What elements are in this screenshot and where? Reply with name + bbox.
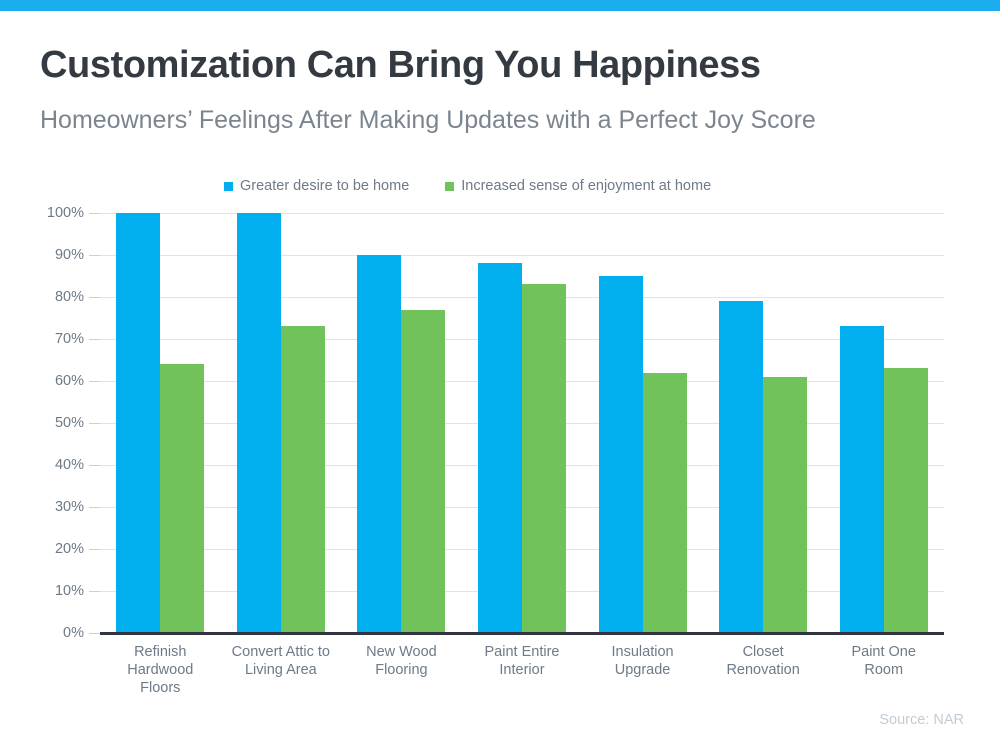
y-axis-tick: [89, 381, 100, 382]
bar-series0-cat1[interactable]: [237, 213, 281, 633]
legend-swatch-icon-0: [224, 182, 233, 191]
bar-series1-cat5[interactable]: [763, 377, 807, 633]
x-axis-label-0: Refinish Hardwood Floors: [100, 643, 221, 697]
x-axis-label-1: Convert Attic to Living Area: [221, 643, 342, 679]
y-axis-tick: [89, 339, 100, 340]
y-axis-label: 30%: [55, 499, 84, 515]
y-axis-label: 100%: [47, 205, 84, 221]
bar-series0-cat5[interactable]: [719, 301, 763, 633]
y-axis-label: 20%: [55, 541, 84, 557]
legend-label-0: Greater desire to be home: [240, 178, 409, 194]
bar-series1-cat2[interactable]: [401, 310, 445, 633]
y-axis-label: 0%: [63, 625, 84, 641]
legend-item-1[interactable]: Increased sense of enjoyment at home: [445, 178, 711, 194]
gridline: [100, 255, 944, 256]
y-axis-tick: [89, 591, 100, 592]
y-axis-tick: [89, 549, 100, 550]
y-axis-label: 80%: [55, 289, 84, 305]
y-axis-tick: [89, 633, 100, 634]
bar-series1-cat0[interactable]: [160, 364, 204, 633]
y-axis-label: 90%: [55, 247, 84, 263]
top-accent-bar: [0, 0, 1000, 11]
y-axis-label: 10%: [55, 583, 84, 599]
chart-plot-area: [100, 213, 944, 633]
x-axis-label-5: Closet Renovation: [703, 643, 824, 679]
bar-series0-cat0[interactable]: [116, 213, 160, 633]
source-note: Source: NAR: [879, 712, 964, 728]
y-axis-label: 50%: [55, 415, 84, 431]
x-axis-label-4: Insulation Upgrade: [582, 643, 703, 679]
y-axis-label: 70%: [55, 331, 84, 347]
bar-series0-cat6[interactable]: [840, 326, 884, 633]
y-axis-label: 60%: [55, 373, 84, 389]
gridline: [100, 213, 944, 214]
bar-series1-cat1[interactable]: [281, 326, 325, 633]
legend-label-1: Increased sense of enjoyment at home: [461, 178, 711, 194]
bar-series0-cat3[interactable]: [478, 263, 522, 633]
y-axis-tick: [89, 255, 100, 256]
page-subtitle: Homeowners’ Feelings After Making Update…: [40, 106, 816, 135]
bar-series0-cat2[interactable]: [357, 255, 401, 633]
page-title: Customization Can Bring You Happiness: [40, 44, 761, 87]
bar-series1-cat4[interactable]: [643, 373, 687, 633]
x-axis-label-3: Paint Entire Interior: [462, 643, 583, 679]
bar-series0-cat4[interactable]: [599, 276, 643, 633]
y-axis-tick: [89, 213, 100, 214]
y-axis-tick: [89, 423, 100, 424]
x-axis-line: [100, 632, 944, 635]
x-axis-label-6: Paint One Room: [823, 643, 944, 679]
bar-series1-cat6[interactable]: [884, 368, 928, 633]
y-axis-tick: [89, 507, 100, 508]
x-axis-label-2: New Wood Flooring: [341, 643, 462, 679]
y-axis-label: 40%: [55, 457, 84, 473]
y-axis-tick: [89, 465, 100, 466]
y-axis-tick: [89, 297, 100, 298]
legend-item-0[interactable]: Greater desire to be home: [224, 178, 409, 194]
chart-legend: Greater desire to be homeIncreased sense…: [224, 178, 711, 194]
bar-series1-cat3[interactable]: [522, 284, 566, 633]
legend-swatch-icon-1: [445, 182, 454, 191]
